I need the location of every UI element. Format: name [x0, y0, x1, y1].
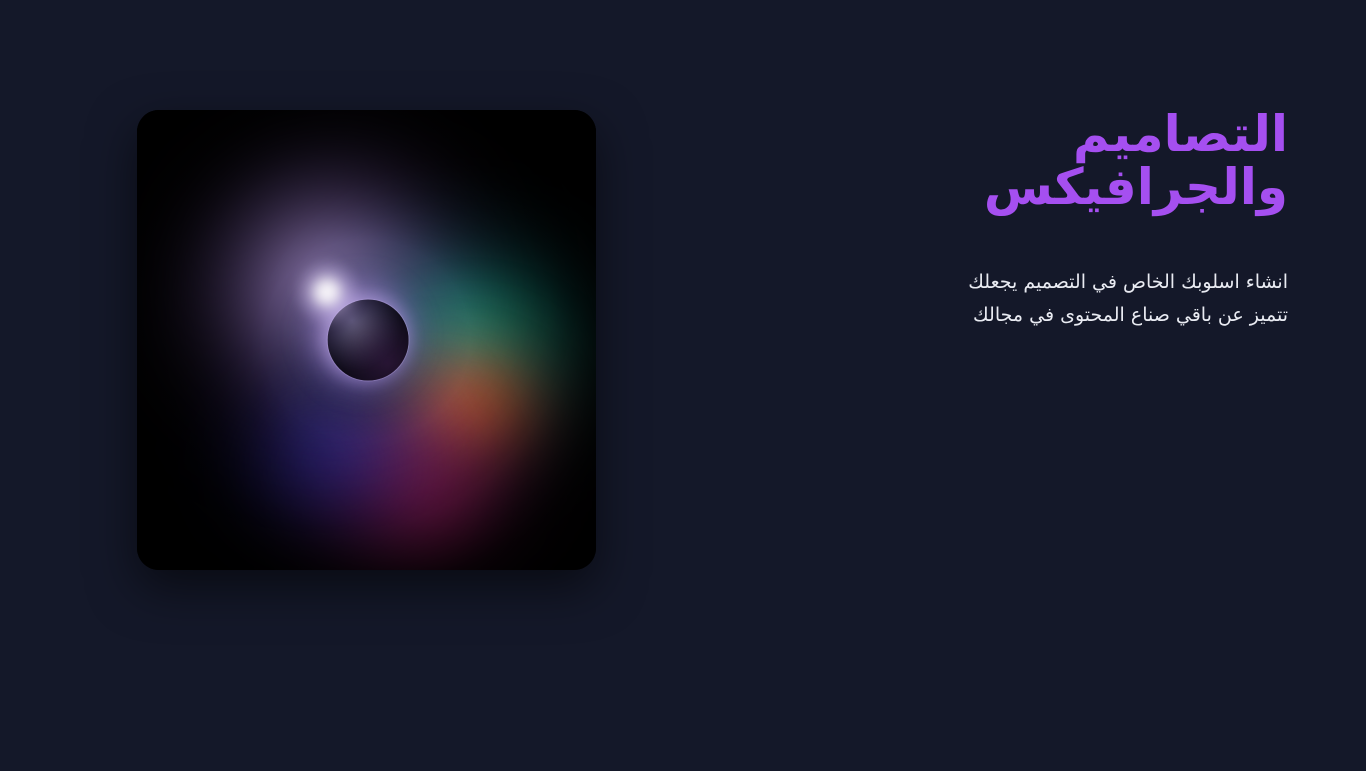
design-graphics-section: التصاميم والجرافيكس انشاء اسلوبك الخاص ف… — [0, 0, 1366, 771]
subcopy-line-2: تتميز عن باقي صناع المحتوى في مجالك — [828, 299, 1288, 332]
light-flare — [293, 257, 362, 326]
subcopy-line-1: انشاء اسلوبك الخاص في التصميم يجعلك — [828, 266, 1288, 299]
section-headline: التصاميم والجرافيكس — [828, 108, 1288, 214]
section-subcopy: انشاء اسلوبك الخاص في التصميم يجعلك تتمي… — [828, 266, 1288, 331]
headline-line-2: والجرافيكس — [828, 161, 1288, 214]
headline-line-1: التصاميم — [828, 108, 1288, 161]
eclipse-orb-artwork — [137, 110, 596, 570]
text-column: التصاميم والجرافيكس انشاء اسلوبك الخاص ف… — [828, 108, 1288, 331]
artwork-card — [137, 110, 596, 570]
